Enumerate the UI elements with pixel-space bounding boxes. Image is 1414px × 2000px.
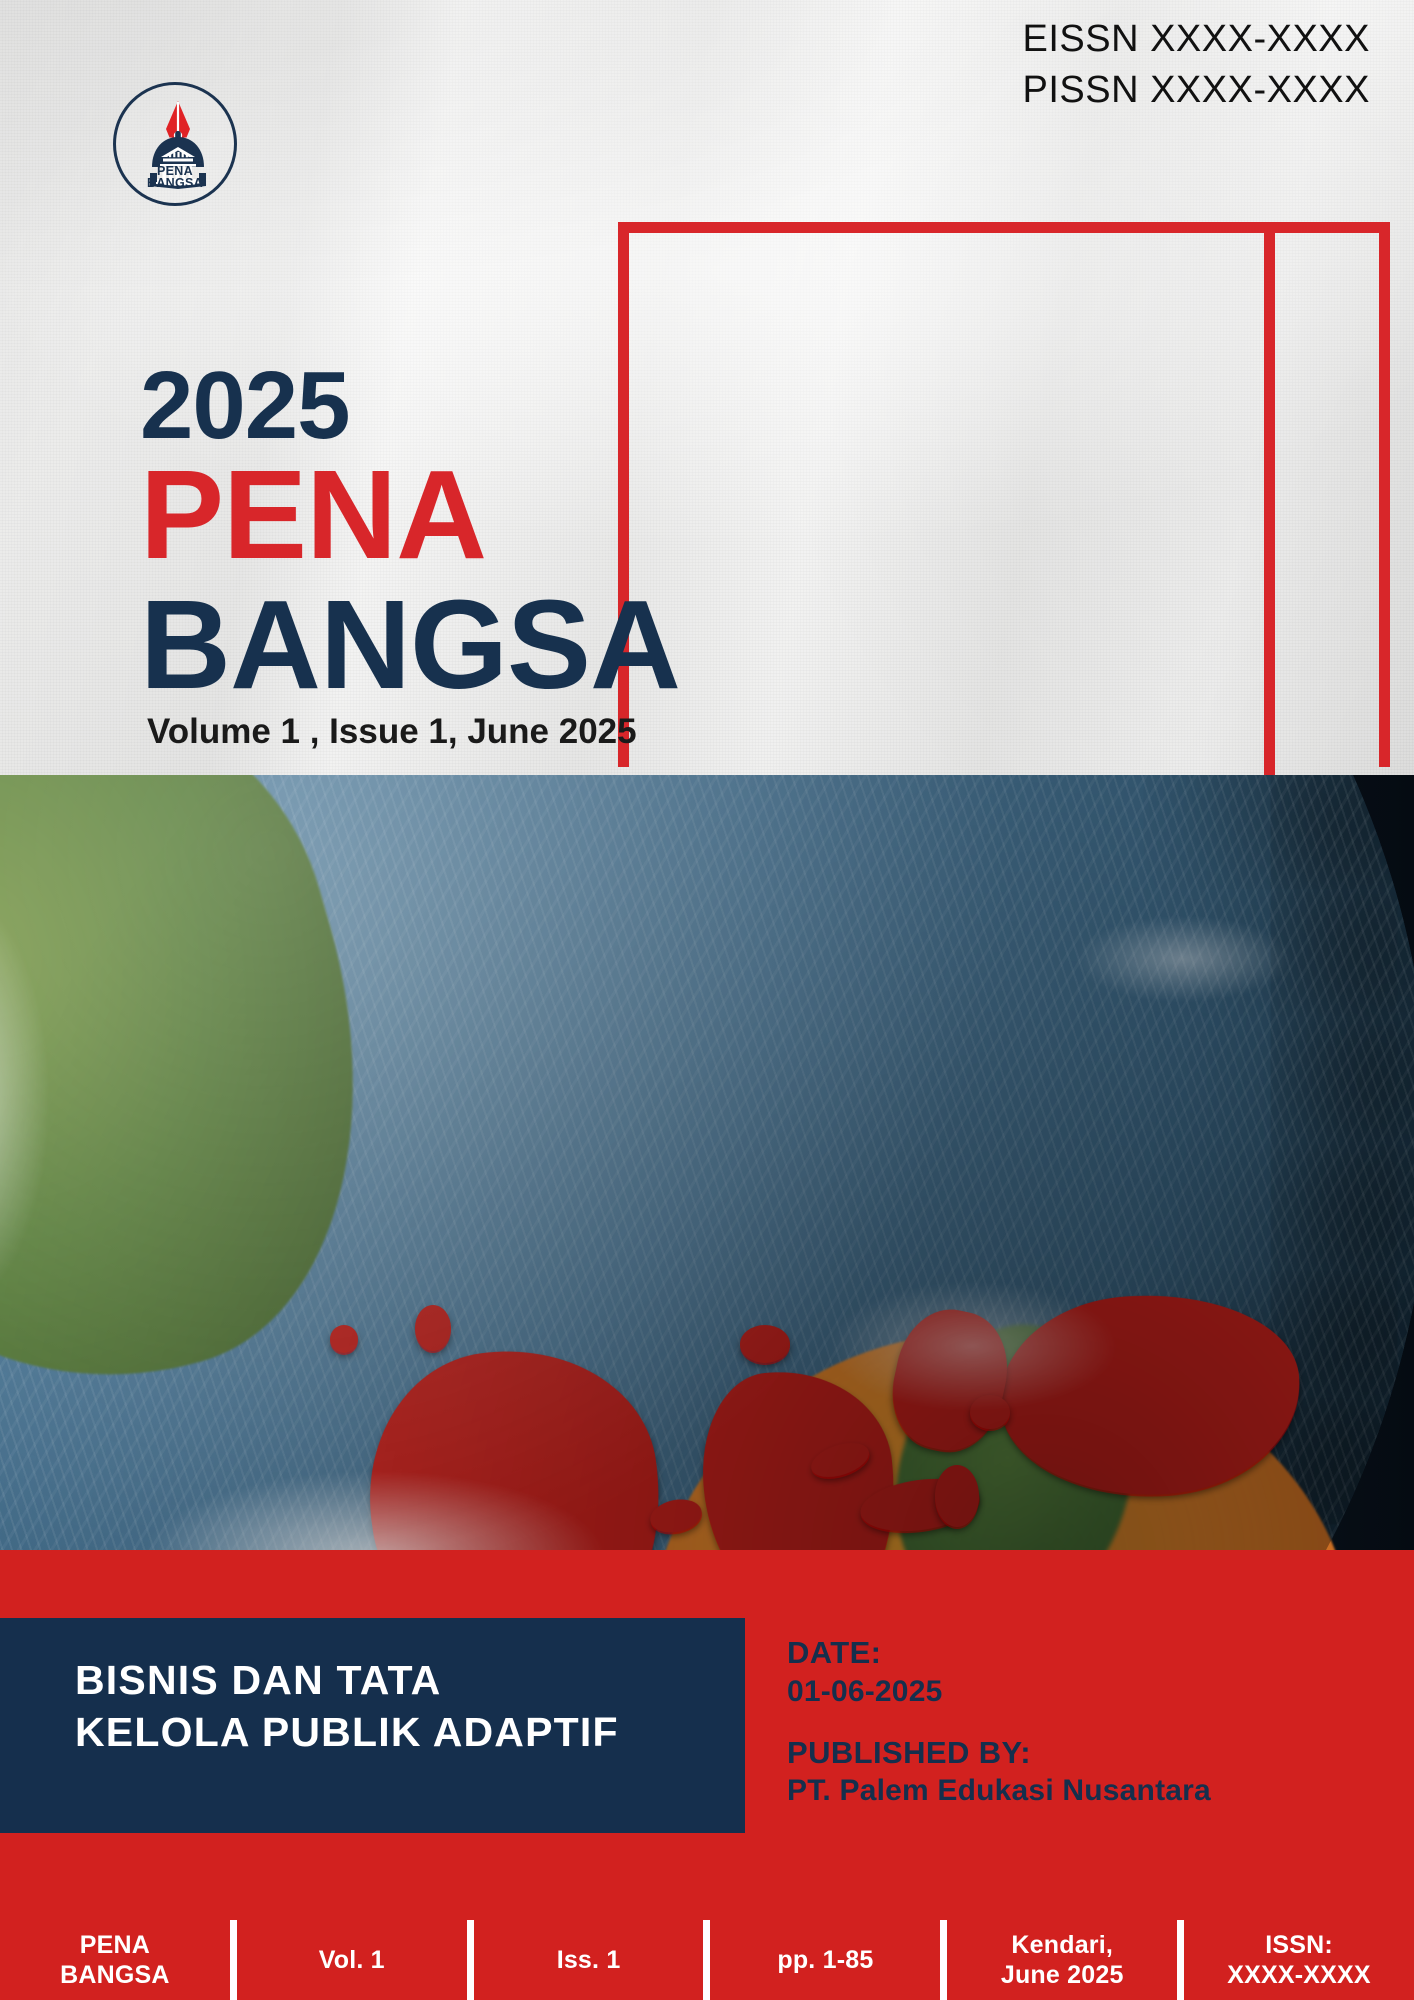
- issue-title: BISNIS DAN TATA KELOLA PUBLIK ADAPTIF: [75, 1655, 715, 1758]
- pen-nib-dome-icon: [116, 85, 240, 209]
- earth-globe: [0, 775, 1414, 1550]
- date-group: DATE: 01-06-2025: [787, 1635, 1211, 1711]
- publisher-group: PUBLISHED BY: PT. Palem Edukasi Nusantar…: [787, 1735, 1211, 1811]
- footer-cell: PENABANGSA: [0, 1920, 230, 2000]
- footer-cell: pp. 1-85: [710, 1920, 940, 2000]
- issue-meta: DATE: 01-06-2025 PUBLISHED BY: PT. Palem…: [787, 1635, 1211, 1834]
- volume-issue-line: Volume 1 , Issue 1, June 2025: [147, 712, 637, 752]
- logo-wordmark: PENA BANGSA: [116, 165, 234, 191]
- footer-cell-line-1: ISSN:: [1227, 1930, 1371, 1961]
- issue-title-line-1: BISNIS DAN TATA: [75, 1655, 715, 1707]
- publisher-value: PT. Palem Edukasi Nusantara: [787, 1771, 1211, 1810]
- footer-cell: ISSN:XXXX-XXXX: [1184, 1920, 1414, 2000]
- journal-logo: PENA BANGSA: [113, 82, 237, 206]
- footer-cell-line-1: PENA: [60, 1930, 170, 1961]
- logo-line-2: BANGSA: [116, 177, 234, 190]
- footer-cell-line-1: Kendari,: [1001, 1930, 1124, 1961]
- footer-cell-line-2: June 2025: [1001, 1960, 1124, 1991]
- journal-cover: EISSN XXXX-XXXX PISSN XXXX-XXXX: [0, 0, 1414, 2000]
- journal-name-line-2: BANGSA: [140, 582, 680, 708]
- issue-title-line-2: KELOLA PUBLIK ADAPTIF: [75, 1707, 715, 1759]
- footer-cell-line-2: BANGSA: [60, 1960, 170, 1991]
- footer-cell: Kendari,June 2025: [947, 1920, 1177, 2000]
- date-value: 01-06-2025: [787, 1672, 1211, 1711]
- footer-cell-line-1: pp. 1-85: [777, 1945, 873, 1976]
- footer-cell-line-1: Iss. 1: [557, 1945, 621, 1976]
- date-label: DATE:: [787, 1635, 1211, 1672]
- cover-year: 2025: [140, 358, 350, 454]
- globe-shading: [0, 775, 1414, 1550]
- footer-cell-line-1: Vol. 1: [319, 1945, 385, 1976]
- globe-cover-image: [0, 775, 1414, 1550]
- pissn-text: PISSN XXXX-XXXX: [1022, 65, 1370, 116]
- footer-cell-line-2: XXXX-XXXX: [1227, 1960, 1371, 1991]
- eissn-text: EISSN XXXX-XXXX: [1022, 14, 1370, 65]
- footer-strip: PENABANGSA Vol. 1 Iss. 1 pp. 1-85 Kendar…: [0, 1920, 1414, 2000]
- footer-cell: Vol. 1: [237, 1920, 467, 2000]
- journal-name-line-1: PENA: [140, 452, 486, 578]
- issn-block: EISSN XXXX-XXXX PISSN XXXX-XXXX: [1022, 14, 1370, 117]
- footer-cell: Iss. 1: [474, 1920, 704, 2000]
- publisher-label: PUBLISHED BY:: [787, 1735, 1211, 1772]
